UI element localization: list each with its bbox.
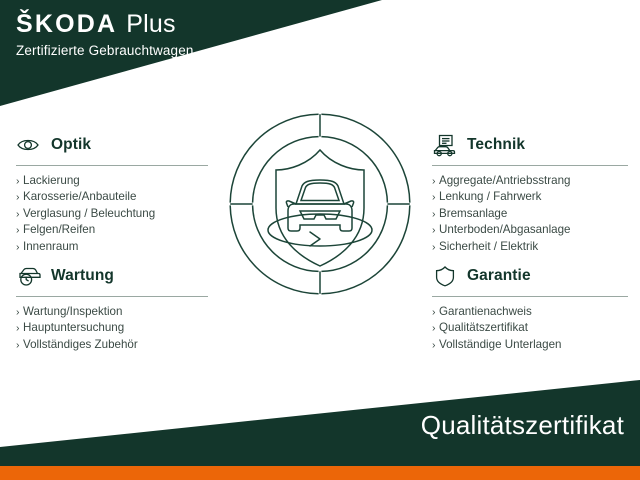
chevron-right-icon: › — [16, 173, 20, 189]
list-item-label: Lenkung / Fahrwerk — [439, 189, 541, 205]
section-technik-title: Technik — [467, 137, 525, 153]
chevron-right-icon: › — [16, 304, 20, 320]
chevron-right-icon: › — [16, 189, 20, 205]
list-item-label: Vollständige Unterlagen — [439, 337, 561, 353]
section-technik-list: ›Aggregate/Antriebsstrang ›Lenkung / Fah… — [432, 173, 628, 255]
chevron-right-icon: › — [432, 173, 436, 189]
chevron-right-icon: › — [432, 206, 436, 222]
list-item: ›Vollständiges Zubehör — [16, 337, 208, 353]
chevron-right-icon: › — [432, 304, 436, 320]
list-item: ›Lackierung — [16, 173, 208, 189]
list-item: ›Sicherheit / Elektrik — [432, 239, 628, 255]
section-wartung: Wartung ›Wartung/Inspektion ›Hauptunters… — [16, 263, 208, 353]
list-item-label: Garantienachweis — [439, 304, 532, 320]
list-item-label: Sicherheit / Elektrik — [439, 239, 538, 255]
section-technik-header: Technik — [432, 132, 628, 158]
section-optik: Optik ›Lackierung ›Karosserie/Anbauteile… — [16, 132, 208, 255]
shield-car-certification-icon — [228, 112, 412, 296]
section-wartung-title: Wartung — [51, 268, 114, 284]
chevron-right-icon: › — [16, 206, 20, 222]
chevron-right-icon: › — [16, 337, 20, 353]
section-garantie-list: ›Garantienachweis ›Qualitätszertifikat ›… — [432, 304, 628, 353]
list-item-label: Bremsanlage — [439, 206, 507, 222]
brand-skoda-wordmark: ŠKODA — [16, 12, 117, 37]
list-item: ›Hauptuntersuchung — [16, 320, 208, 336]
section-optik-header: Optik — [16, 132, 208, 158]
certificate-page: ŠKODA Plus Zertifizierte Gebrauchtwagen — [0, 0, 640, 480]
chevron-right-icon: › — [432, 337, 436, 353]
list-item: ›Verglasung / Beleuchtung — [16, 206, 208, 222]
list-item-label: Karosserie/Anbauteile — [23, 189, 136, 205]
footer-accent-bar — [0, 466, 640, 480]
section-technik-divider — [432, 165, 628, 166]
section-garantie-title: Garantie — [467, 268, 531, 284]
car-clock-icon — [16, 264, 42, 288]
section-wartung-header: Wartung — [16, 263, 208, 289]
list-item: ›Innenraum — [16, 239, 208, 255]
section-wartung-divider — [16, 296, 208, 297]
chevron-right-icon: › — [432, 222, 436, 238]
list-item: ›Vollständige Unterlagen — [432, 337, 628, 353]
certification-emblem — [228, 112, 412, 296]
list-item-label: Hauptuntersuchung — [23, 320, 124, 336]
list-item-label: Verglasung / Beleuchtung — [23, 206, 155, 222]
section-technik: Technik ›Aggregate/Antriebsstrang ›Lenku… — [432, 132, 628, 255]
list-item: ›Karosserie/Anbauteile — [16, 189, 208, 205]
list-item: ›Felgen/Reifen — [16, 222, 208, 238]
list-item: ›Garantienachweis — [432, 304, 628, 320]
list-item-label: Unterboden/Abgasanlage — [439, 222, 571, 238]
section-garantie: Garantie ›Garantienachweis ›Qualitätszer… — [432, 263, 628, 353]
section-optik-divider — [16, 165, 208, 166]
list-item-label: Innenraum — [23, 239, 78, 255]
brand-tagline: Zertifizierte Gebrauchtwagen — [16, 44, 194, 58]
emblem-shield — [276, 150, 364, 266]
list-item-label: Vollständiges Zubehör — [23, 337, 138, 353]
chevron-right-icon: › — [432, 239, 436, 255]
emblem-orbit — [268, 214, 372, 246]
list-item-label: Felgen/Reifen — [23, 222, 95, 238]
chevron-right-icon: › — [16, 320, 20, 336]
list-item: ›Unterboden/Abgasanlage — [432, 222, 628, 238]
list-item: ›Aggregate/Antriebsstrang — [432, 173, 628, 189]
emblem-orbit-arrow — [310, 232, 320, 246]
section-optik-list: ›Lackierung ›Karosserie/Anbauteile ›Verg… — [16, 173, 208, 255]
section-wartung-list: ›Wartung/Inspektion ›Hauptuntersuchung ›… — [16, 304, 208, 353]
eye-icon — [16, 133, 42, 157]
list-item-label: Qualitätszertifikat — [439, 320, 528, 336]
list-item-label: Wartung/Inspektion — [23, 304, 122, 320]
list-item: ›Wartung/Inspektion — [16, 304, 208, 320]
list-item-label: Aggregate/Antriebsstrang — [439, 173, 570, 189]
list-item-label: Lackierung — [23, 173, 80, 189]
car-document-icon — [432, 133, 458, 157]
brand-plus-label: Plus — [126, 12, 175, 37]
footer-title: Qualitätszertifikat — [421, 412, 624, 438]
chevron-right-icon: › — [432, 189, 436, 205]
list-item: ›Bremsanlage — [432, 206, 628, 222]
section-garantie-divider — [432, 296, 628, 297]
brand-wordmark-row: ŠKODA Plus — [16, 12, 194, 37]
emblem-car-front — [286, 180, 353, 231]
section-optik-title: Optik — [51, 137, 91, 153]
shield-icon — [432, 264, 458, 288]
list-item: ›Qualitätszertifikat — [432, 320, 628, 336]
chevron-right-icon: › — [16, 222, 20, 238]
chevron-right-icon: › — [16, 239, 20, 255]
brand-logo: ŠKODA Plus Zertifizierte Gebrauchtwagen — [16, 12, 194, 58]
section-garantie-header: Garantie — [432, 263, 628, 289]
list-item: ›Lenkung / Fahrwerk — [432, 189, 628, 205]
chevron-right-icon: › — [432, 320, 436, 336]
